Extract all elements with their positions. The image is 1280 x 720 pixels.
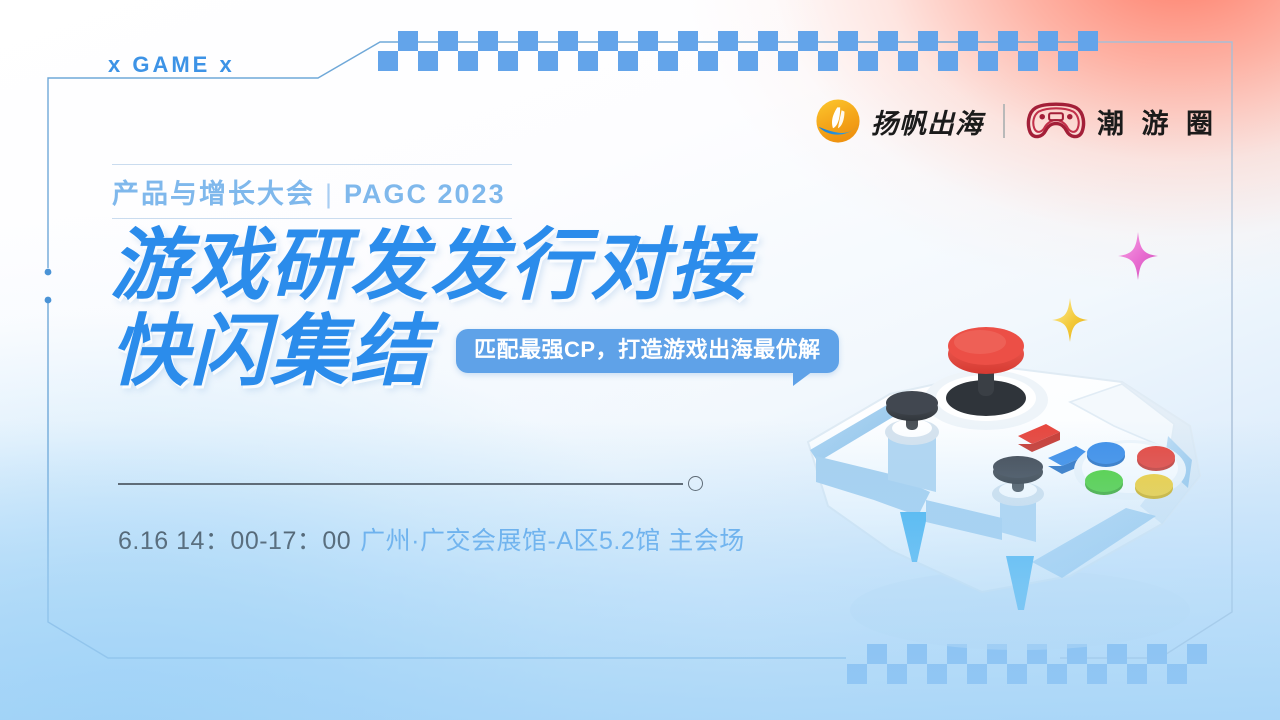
game-controller-illustration [770, 310, 1240, 660]
subtitle-separator: | [325, 179, 334, 210]
checker-pattern-top [378, 31, 1098, 71]
subtitle-hairline-bottom [112, 218, 512, 219]
logo-bar: 扬帆出海 潮 游 圈 [815, 98, 1218, 144]
headline-line-1: 游戏研发发行对接 [110, 222, 839, 308]
logo-divider [1003, 104, 1005, 138]
divider-with-knob [118, 476, 703, 492]
subtitle-en: PAGC 2023 [344, 179, 506, 210]
game-tag-label: x GAME x [108, 52, 235, 78]
headline-line-2: 快闪集结 [110, 308, 430, 394]
banner-stage: x GAME x [0, 0, 1280, 720]
checker-row [378, 31, 1098, 51]
sparkle-pink-icon [1118, 232, 1158, 280]
logo-yangfanchuhai[interactable]: 扬帆出海 [815, 98, 983, 144]
event-venue: 广州·广交会展馆-A区5.2馆 主会场 [360, 521, 745, 557]
logo-chaoyouquan[interactable]: 潮 游 圈 [1025, 99, 1218, 143]
headline-block: 游戏研发发行对接 快闪集结 匹配最强CP，打造游戏出海最优解 [110, 222, 839, 394]
logo-chaoyouquan-label: 潮 游 圈 [1097, 102, 1218, 141]
subtitle-cn: 产品与增长大会 [112, 172, 315, 211]
checker-row [847, 664, 1207, 684]
tagline-badge: 匹配最强CP，打造游戏出海最优解 [456, 329, 839, 372]
divider-knob-icon [688, 476, 703, 491]
divider-bar [118, 483, 683, 485]
gamepad-outline-icon [1025, 99, 1087, 143]
logo-yangfanchuhai-label: 扬帆出海 [871, 102, 983, 141]
sail-circle-icon [815, 98, 861, 144]
headline-row-2: 快闪集结 匹配最强CP，打造游戏出海最优解 [110, 308, 839, 394]
event-info-line: 6.16 14：00-17：00 广州·广交会展馆-A区5.2馆 主会场 [118, 521, 745, 557]
subtitle-hairline-top [112, 164, 512, 165]
conference-subtitle: 产品与增长大会 | PAGC 2023 [112, 172, 512, 211]
subtitle-block: 产品与增长大会 | PAGC 2023 [112, 164, 512, 219]
checker-row [378, 51, 1098, 71]
event-date-time: 6.16 14：00-17：00 [118, 521, 351, 557]
